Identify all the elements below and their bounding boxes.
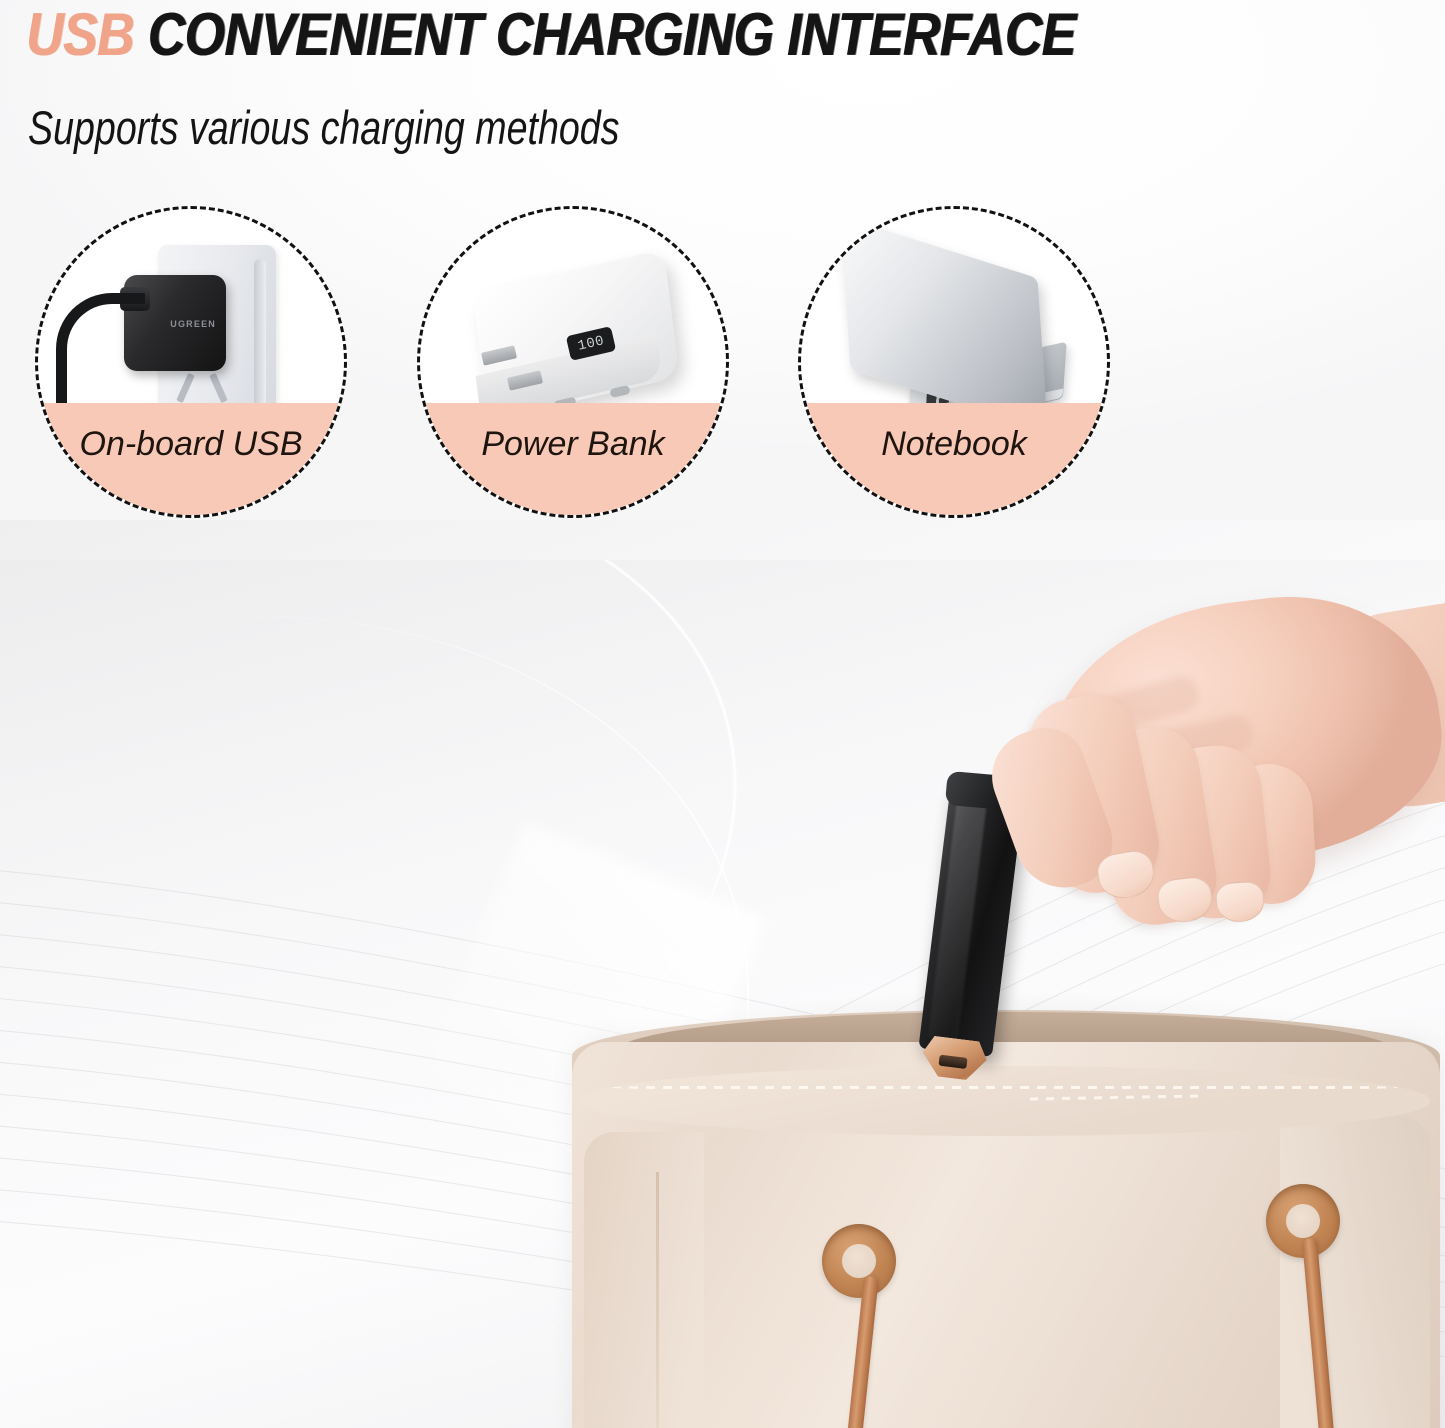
charger-brand-label: UGREEN — [170, 319, 216, 329]
heading-accent-usb: USB — [26, 1, 134, 68]
laptop-lid — [840, 216, 1048, 432]
battery-percent-value: 100 — [576, 333, 606, 355]
handbag-stitching-main — [612, 1086, 1398, 1089]
handbag-grommet-left — [822, 1224, 896, 1298]
charging-method-label: Power Bank — [420, 425, 726, 463]
lifestyle-photo — [0, 560, 1445, 1428]
product-infographic: USB CONVENIENT CHARGING INTERFACE Suppor… — [0, 0, 1445, 1428]
hand-holding-product — [952, 578, 1445, 1008]
section-one-heading: USB CONVENIENT CHARGING INTERFACE — [26, 2, 1075, 68]
handbag-left-panel — [584, 1132, 704, 1428]
leather-handbag — [560, 990, 1445, 1428]
handbag-right-panel — [1280, 1116, 1430, 1428]
charging-method-card-notebook[interactable]: Notebook — [798, 206, 1110, 518]
charging-method-label: Notebook — [801, 425, 1107, 463]
handbag-front-lip — [580, 1066, 1430, 1136]
heading-rest-text: CONVENIENT CHARGING INTERFACE — [148, 1, 1076, 68]
charging-method-card-on-board-usb[interactable]: UGREEN On-board USB — [35, 206, 347, 518]
charging-methods-row: UGREEN On-board USB 100 Powe — [0, 206, 1445, 522]
section-one-subheading: Supports various charging methods — [28, 100, 619, 156]
charging-method-label: On-board USB — [38, 425, 344, 463]
handbag-side-seam — [656, 1172, 659, 1428]
charging-method-card-power-bank[interactable]: 100 Power Bank — [417, 206, 729, 518]
